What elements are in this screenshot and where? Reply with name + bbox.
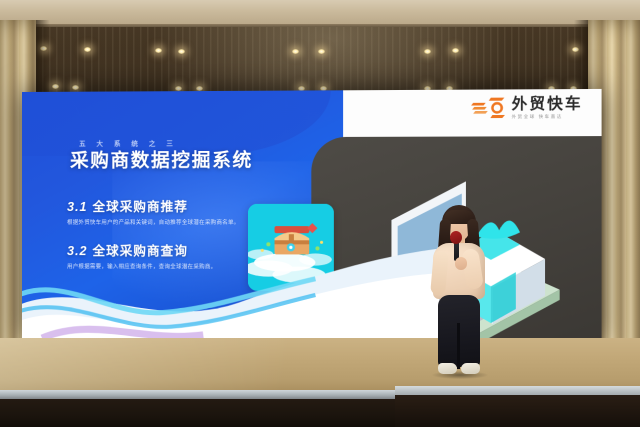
winged-emblem-icon (471, 96, 506, 121)
section-body: 用户根据需要，输入相应查询条件，查询全球潜在采购商。 (67, 263, 249, 273)
ceiling (0, 0, 640, 26)
slide-section-3-2: 3.2全球采购商查询 用户根据需要，输入相应查询条件，查询全球潜在采购商。 (67, 240, 249, 273)
brand-tagline: 外贸全球 快车直达 (512, 115, 583, 120)
screenshot-root: 外贸快车 外贸全球 快车直达 五 大 系 统 之 三 采购商数据挖掘系统 3.1… (0, 0, 640, 427)
ceiling-spotlight (72, 85, 79, 90)
section-heading: 3.2全球采购商查询 (67, 240, 249, 259)
presenter (424, 205, 494, 397)
section-number: 3.2 (67, 244, 87, 258)
presenter-hand (455, 257, 467, 270)
slide-canvas: 外贸快车 外贸全球 快车直达 五 大 系 统 之 三 采购商数据挖掘系统 3.1… (22, 89, 602, 343)
section-title: 全球采购商查询 (93, 244, 188, 258)
section-heading: 3.1全球采购商推荐 (67, 196, 249, 215)
ceiling-spotlight (52, 84, 59, 89)
slide-section-3-1: 3.1全球采购商推荐 根据外贸快车用户的产品和关键词，自动推荐全球潜在采购商名单… (67, 196, 249, 229)
ceiling-spotlight (452, 48, 459, 53)
projection-screen: 外贸快车 外贸全球 快车直达 五 大 系 统 之 三 采购商数据挖掘系统 3.1… (22, 89, 602, 343)
brand-logo: 外贸快车 外贸全球 快车直达 (471, 95, 583, 120)
section-title: 全球采购商推荐 (93, 200, 188, 214)
brand-logo-text: 外贸快车 外贸全球 快车直达 (512, 96, 583, 119)
section-body: 根据外贸快车用户的产品和关键词，自动推荐全球潜在采购商名单。 (67, 219, 249, 229)
slide-title: 采购商数据挖掘系统 (70, 146, 253, 173)
presenter-shoe-left (438, 363, 457, 374)
ceiling-spotlight (424, 49, 431, 54)
ceiling-spotlight (292, 49, 299, 54)
presenter-shoe-right (461, 363, 480, 374)
section-number: 3.1 (67, 200, 87, 214)
stage-skirt-right (395, 395, 640, 427)
ceiling-spotlight (178, 49, 185, 54)
ceiling-spotlight (155, 48, 162, 53)
microphone-windscreen (450, 231, 462, 244)
ceiling-spotlight (84, 47, 91, 52)
ceiling-spotlight (318, 49, 325, 54)
presenter-leg-split (457, 323, 460, 369)
brand-name: 外贸快车 (512, 96, 583, 112)
